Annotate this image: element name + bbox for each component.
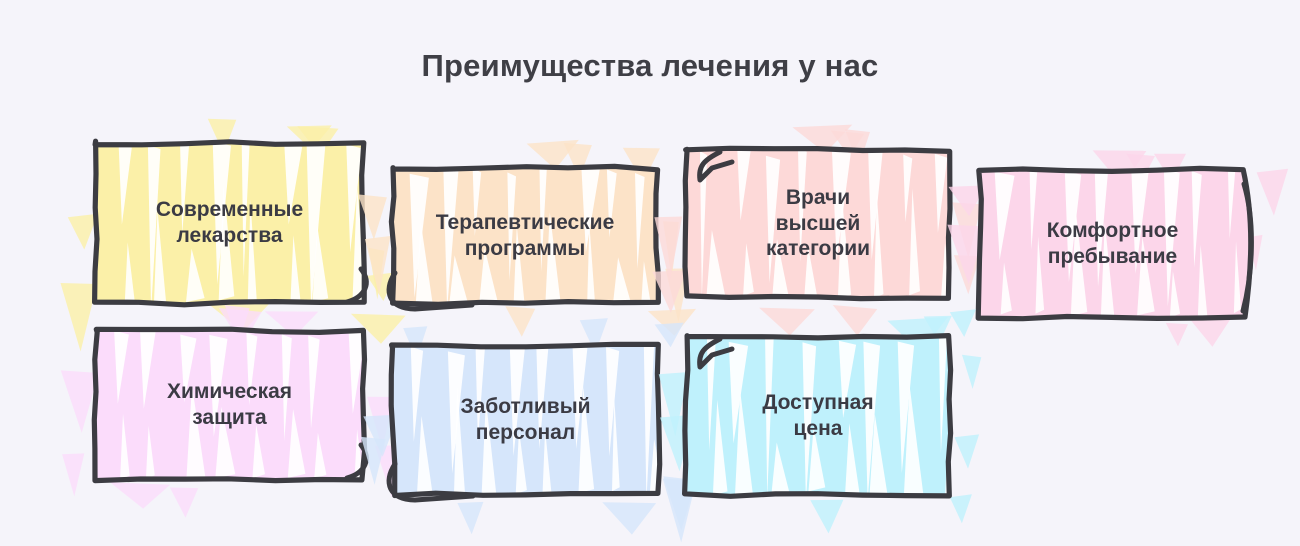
benefit-card-shape — [980, 170, 1245, 317]
benefit-card-shape — [393, 168, 657, 303]
benefit-card-modern-medicines[interactable]: Современныелекарства — [96, 143, 363, 303]
benefit-card-chemical-protection[interactable]: Химическаязащита — [96, 331, 363, 479]
benefit-card-shape — [96, 143, 363, 303]
card-fill — [391, 344, 660, 495]
page-title: Преимущества лечения у нас — [0, 48, 1300, 84]
benefit-card-affordable-price[interactable]: Доступнаяцена — [686, 337, 950, 495]
benefit-card-top-category-doctors[interactable]: Врачивысшейкатегории — [686, 150, 950, 297]
benefit-card-therapeutic-programs[interactable]: Терапевтическиепрограммы — [393, 168, 657, 303]
infographic-canvas: Преимущества лечения у нас Современныеле… — [0, 0, 1300, 546]
benefit-card-caring-staff[interactable]: Заботливыйперсонал — [393, 346, 658, 494]
benefit-card-comfortable-stay[interactable]: Комфортноепребывание — [980, 170, 1245, 317]
benefit-card-shape — [686, 150, 950, 297]
card-fill — [978, 168, 1251, 318]
benefit-card-shape — [686, 337, 950, 495]
benefit-card-shape — [393, 346, 658, 494]
benefit-card-shape — [96, 331, 363, 479]
